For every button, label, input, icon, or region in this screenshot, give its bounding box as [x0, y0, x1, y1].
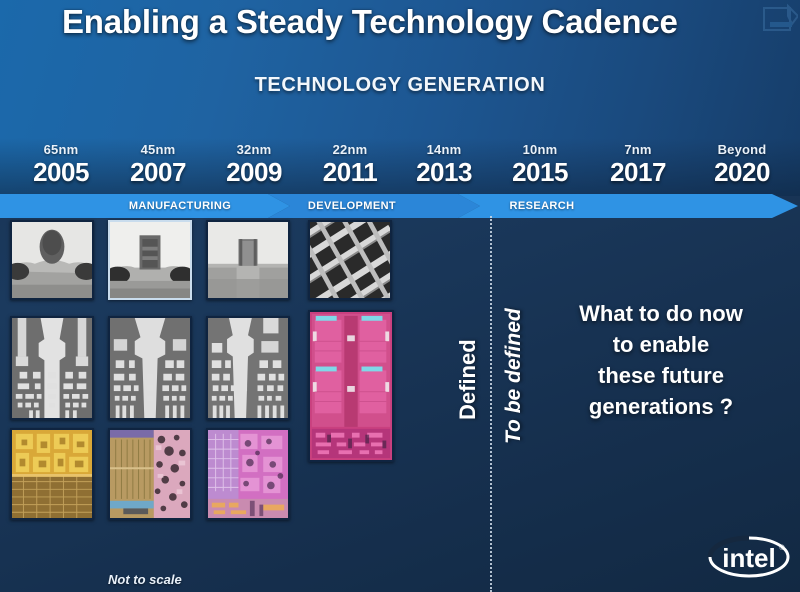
slide-canvas: Enabling a Steady Technology Cadence TEC…: [0, 0, 800, 592]
phase-label-manufacturing: MANUFACTURING: [80, 194, 280, 218]
tile-interconnect-45nm: [108, 316, 192, 420]
node-label: Beyond: [694, 142, 790, 157]
year-label: 2011: [302, 157, 398, 187]
label-to-be-defined: To be defined: [502, 308, 526, 444]
generation-column-7nm: 7nm 2017: [590, 142, 686, 187]
intel-logo: intel ®: [706, 534, 792, 580]
label-defined: Defined: [455, 339, 481, 420]
tile-die-65nm: [10, 428, 94, 520]
node-label: 45nm: [110, 142, 206, 157]
generation-column-10nm: 10nm 2015: [492, 142, 588, 187]
phase-chevron-bar: MANUFACTURING DEVELOPMENT RESEARCH: [0, 194, 800, 218]
question-block: What to do now to enable these future ge…: [530, 298, 792, 422]
node-label: 22nm: [302, 142, 398, 157]
generation-column-45nm: 45nm 2007: [110, 142, 206, 187]
generation-column-14nm: 14nm 2013: [396, 142, 492, 187]
node-label: 14nm: [396, 142, 492, 157]
defined-boundary-divider: [490, 216, 492, 592]
tile-die-22nm: [308, 310, 394, 462]
slide-title: Enabling a Steady Technology Cadence: [62, 2, 762, 42]
footnote-not-to-scale: Not to scale: [108, 572, 182, 587]
node-label: 32nm: [206, 142, 302, 157]
year-label: 2007: [110, 157, 206, 187]
node-label: 10nm: [492, 142, 588, 157]
year-label: 2005: [13, 157, 109, 187]
year-label: 2009: [206, 157, 302, 187]
generation-column-beyond: Beyond 2020: [694, 142, 790, 187]
tile-transistor-32nm: [206, 220, 290, 300]
generation-column-65nm: 65nm 2005: [13, 142, 109, 187]
year-label: 2015: [492, 157, 588, 187]
tile-trigate-22nm: [308, 220, 392, 300]
tile-transistor-65nm: [10, 220, 94, 300]
tile-transistor-45nm: [108, 220, 192, 300]
tile-interconnect-32nm: [206, 316, 290, 420]
section-label: TECHNOLOGY GENERATION: [0, 74, 800, 97]
phase-label-research: RESEARCH: [462, 194, 622, 218]
generation-column-32nm: 32nm 2009: [206, 142, 302, 187]
year-label: 2020: [694, 157, 790, 187]
question-line-4: generations ?: [530, 391, 792, 422]
question-line-3: these future: [530, 360, 792, 391]
node-label: 65nm: [13, 142, 109, 157]
tile-interconnect-65nm: [10, 316, 94, 420]
question-line-2: to enable: [530, 329, 792, 360]
corner-logo-icon: [762, 2, 798, 46]
year-label: 2017: [590, 157, 686, 187]
tile-die-45nm: [108, 428, 192, 520]
generation-column-22nm: 22nm 2011: [302, 142, 398, 187]
question-line-1: What to do now: [530, 298, 792, 329]
tile-die-32nm: [206, 428, 290, 520]
intel-trademark: ®: [779, 544, 785, 552]
node-label: 7nm: [590, 142, 686, 157]
phase-label-development: DEVELOPMENT: [272, 194, 432, 218]
year-label: 2013: [396, 157, 492, 187]
intel-wordmark: intel: [722, 543, 775, 573]
